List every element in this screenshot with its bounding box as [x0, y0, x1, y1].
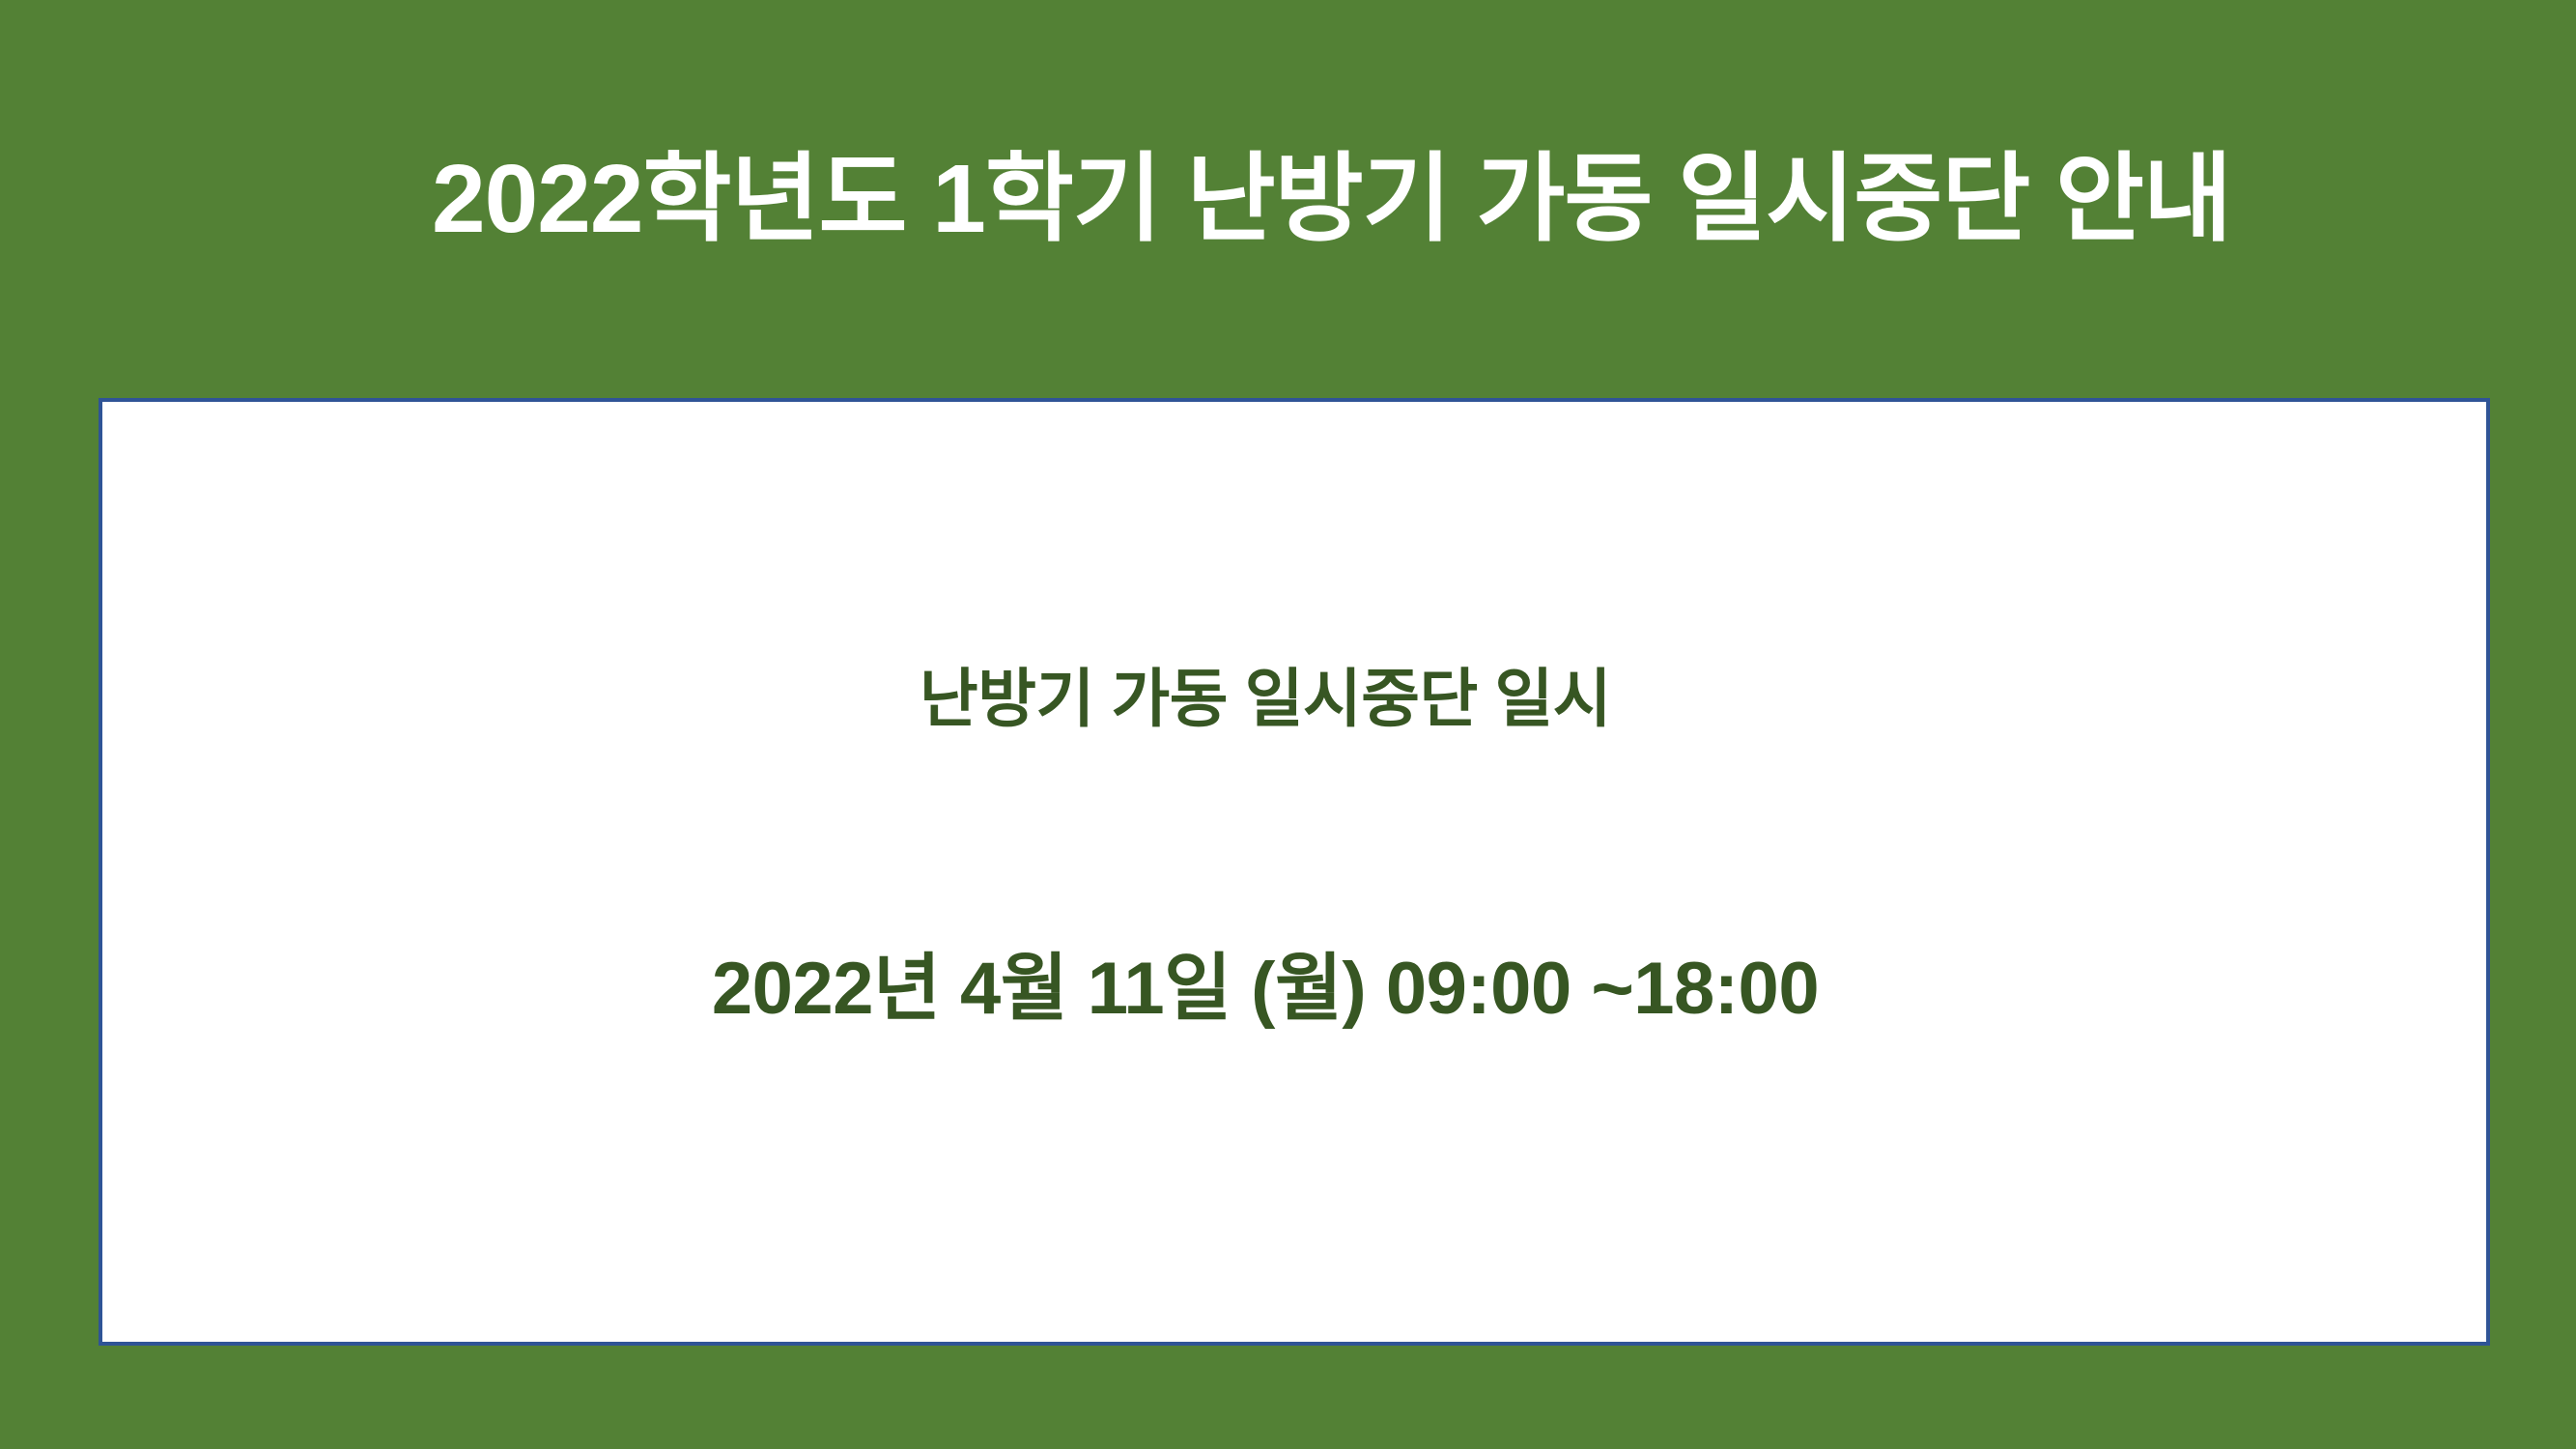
schedule-heading: 난방기 가동 일시중단 일시	[102, 661, 2486, 737]
title-band: 2022학년도 1학기 난방기 가동 일시중단 안내	[0, 0, 2576, 398]
page-title: 2022학년도 1학기 난방기 가동 일시중단 안내	[432, 144, 2231, 255]
notice-slide: 2022학년도 1학기 난방기 가동 일시중단 안내 난방기 가동 일시중단 일…	[0, 0, 2576, 1449]
content-panel-inner: 난방기 가동 일시중단 일시 2022년 4월 11일 (월) 09:00 ~1…	[102, 402, 2486, 1342]
content-panel: 난방기 가동 일시중단 일시 2022년 4월 11일 (월) 09:00 ~1…	[99, 398, 2490, 1346]
schedule-datetime: 2022년 4월 11일 (월) 09:00 ~18:00	[102, 945, 2486, 1033]
